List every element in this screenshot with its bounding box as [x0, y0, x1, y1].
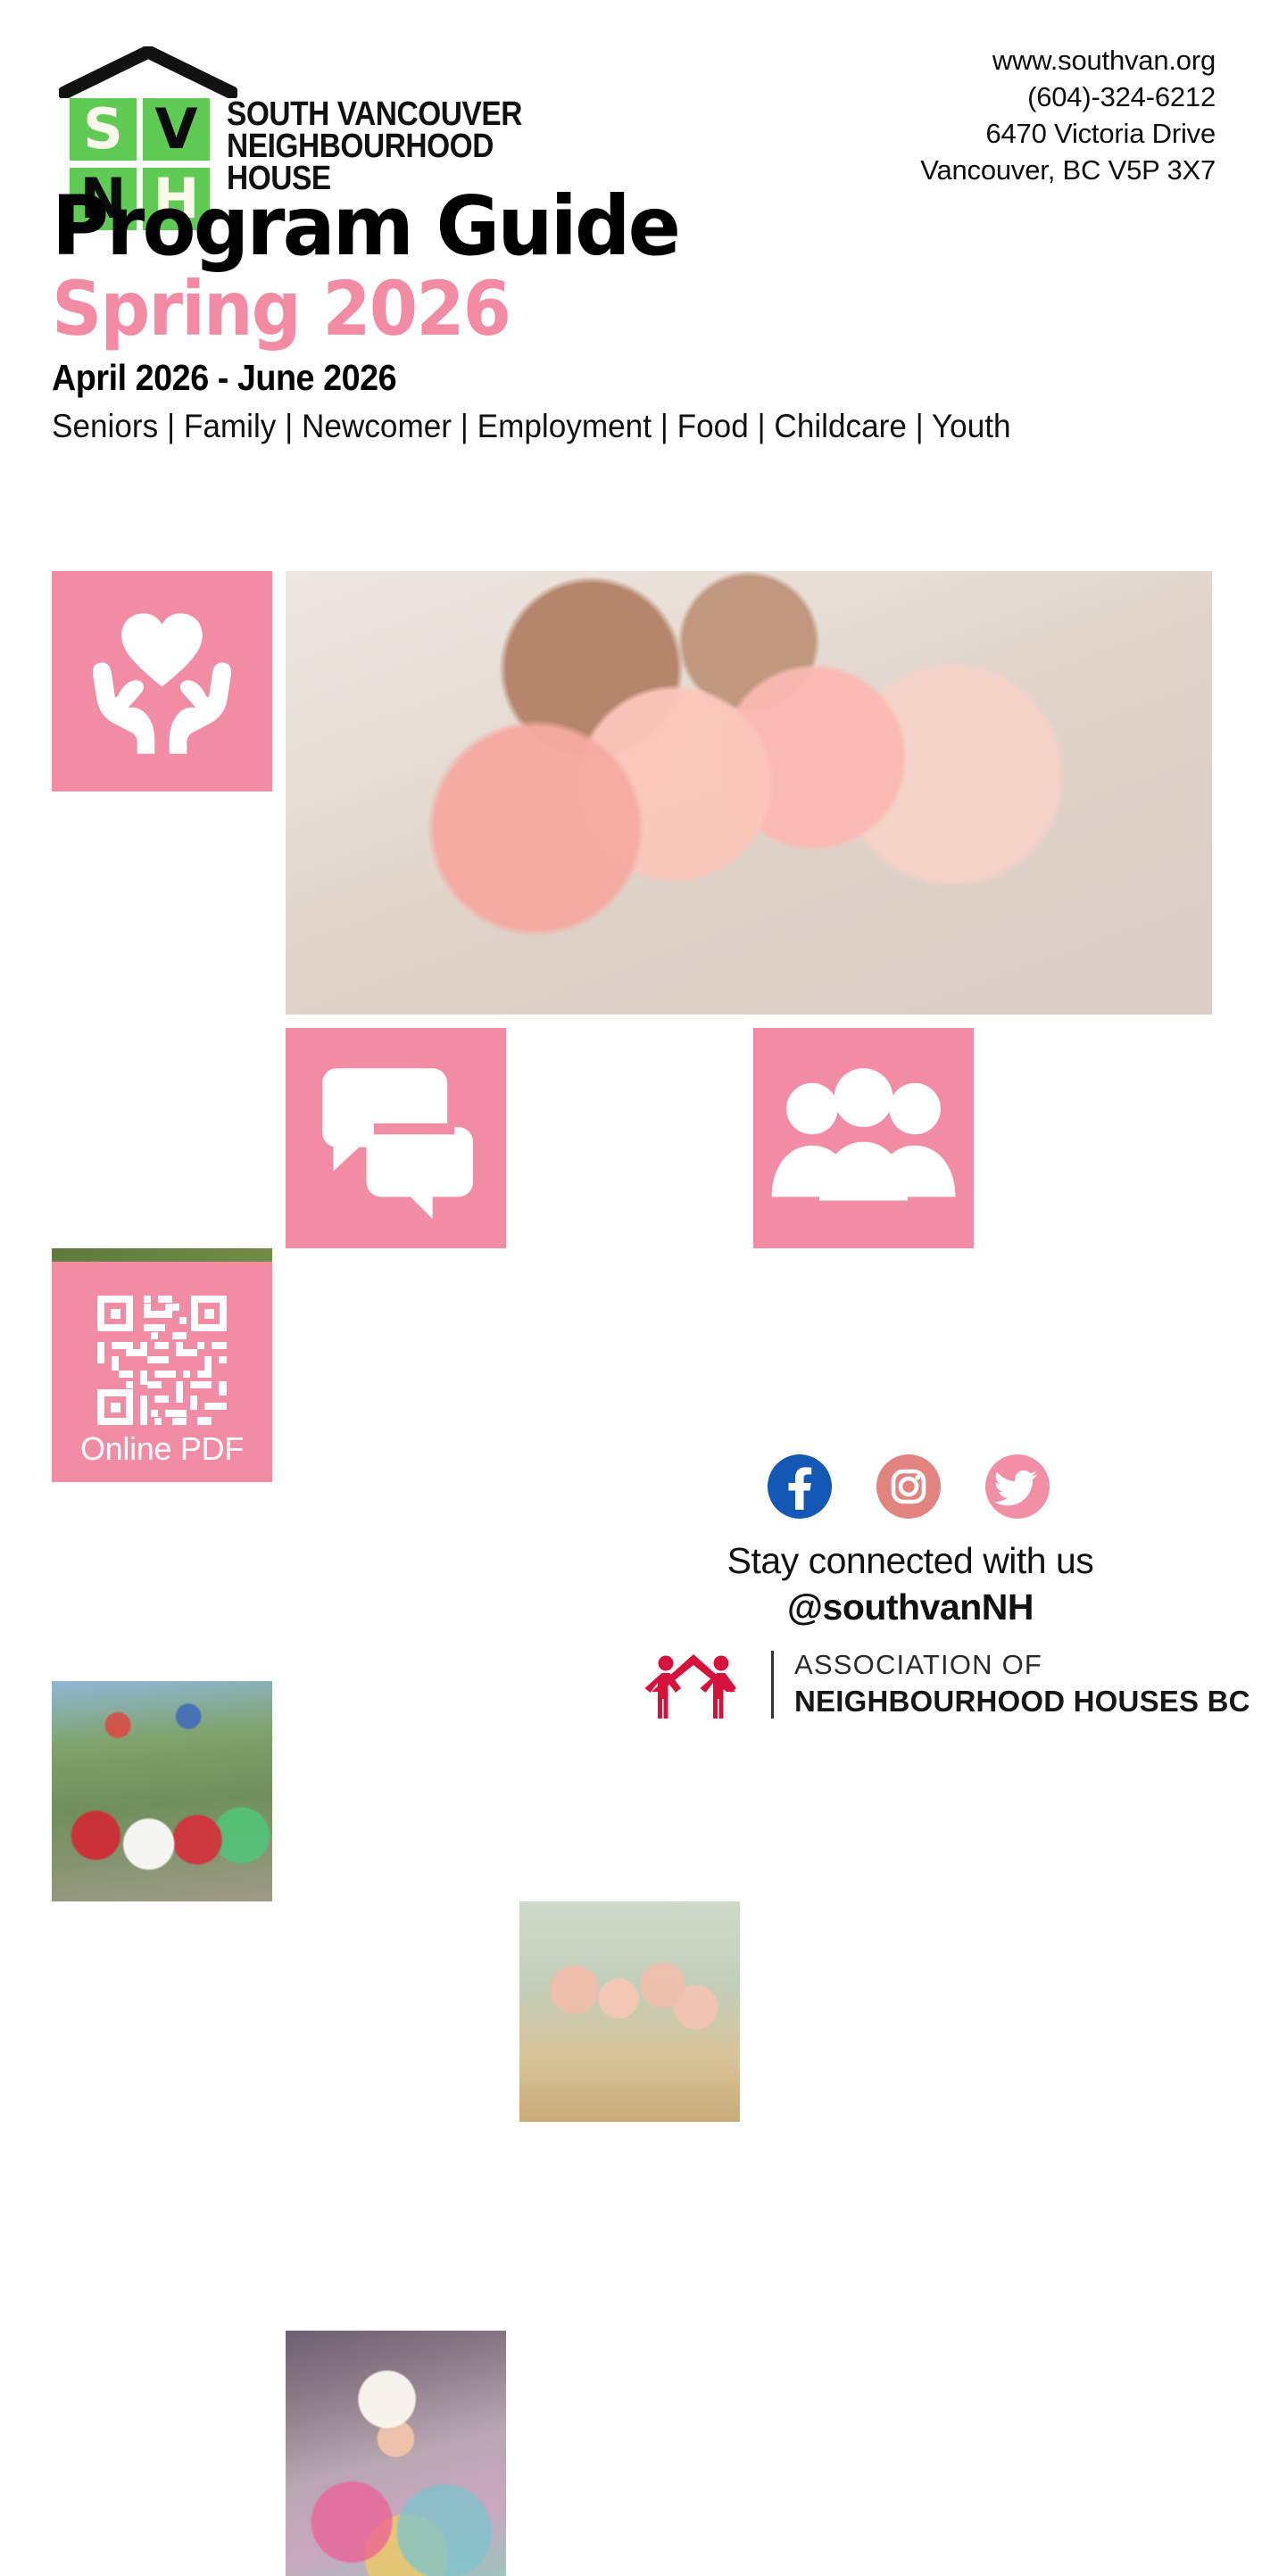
people-group-icon	[753, 1028, 974, 1248]
contact-address-line-2: Vancouver, BC V5P 3X7	[920, 153, 1216, 189]
roof-icon	[59, 46, 237, 98]
logo-letter-s: S	[70, 98, 137, 161]
speech-bubbles-tile	[286, 1028, 506, 1248]
category-list: Seniors | Family | Newcomer | Employment…	[52, 408, 1171, 445]
social-handle: @southvanNH	[571, 1586, 1250, 1628]
season-title: Spring 2026	[52, 269, 1148, 348]
heart-in-hands-tile	[52, 571, 272, 791]
social-links	[768, 1454, 1071, 1524]
title-block: Program Guide Spring 2026 April 2026 - J…	[52, 186, 1230, 445]
photo-collage: Online PDF	[52, 571, 1212, 1463]
org-name-line-1: SOUTH VANCOUVER	[227, 98, 557, 130]
instagram-glyph	[876, 1454, 941, 1519]
logo-letter-v: V	[143, 98, 210, 161]
contact-phone[interactable]: (604)-324-6212	[920, 79, 1216, 116]
speech-bubbles-icon	[286, 1028, 506, 1248]
children-group-photo	[286, 571, 1212, 1015]
anhbc-divider	[771, 1651, 774, 1719]
facebook-icon[interactable]	[768, 1454, 832, 1519]
qr-code-tile[interactable]: Online PDF	[52, 1262, 272, 1482]
twitter-icon[interactable]	[985, 1454, 1050, 1519]
anhbc-logo: ASSOCIATION OF NEIGHBOURHOOD HOUSES BC	[641, 1644, 1212, 1733]
org-name-line-2: NEIGHBOURHOOD	[227, 130, 557, 162]
date-range: April 2026 - June 2026	[52, 357, 1135, 399]
contact-block: www.southvan.org (604)-324-6212 6470 Vic…	[920, 43, 1216, 189]
anhbc-line-2: NEIGHBOURHOOD HOUSES BC	[794, 1685, 1250, 1719]
facebook-glyph	[768, 1454, 832, 1519]
stay-connected-text: Stay connected with us	[571, 1540, 1250, 1582]
instagram-icon[interactable]	[876, 1454, 941, 1519]
anhbc-line-1: ASSOCIATION OF	[794, 1649, 1042, 1681]
people-group-tile	[753, 1028, 974, 1248]
contact-website[interactable]: www.southvan.org	[920, 43, 1216, 79]
anhbc-house-people-icon	[641, 1649, 746, 1722]
twitter-glyph	[985, 1454, 1050, 1519]
contact-address-line-1: 6470 Victoria Drive	[920, 116, 1216, 153]
street-art-photo	[286, 2331, 506, 2576]
page-title: Program Guide	[52, 186, 1171, 268]
heart-hands-icon	[52, 571, 272, 791]
seniors-group-photo	[519, 1901, 740, 2122]
page-footer: Stay connected with us @southvanNH ASSOC…	[0, 1454, 1262, 1785]
qr-code[interactable]	[97, 1296, 227, 1425]
